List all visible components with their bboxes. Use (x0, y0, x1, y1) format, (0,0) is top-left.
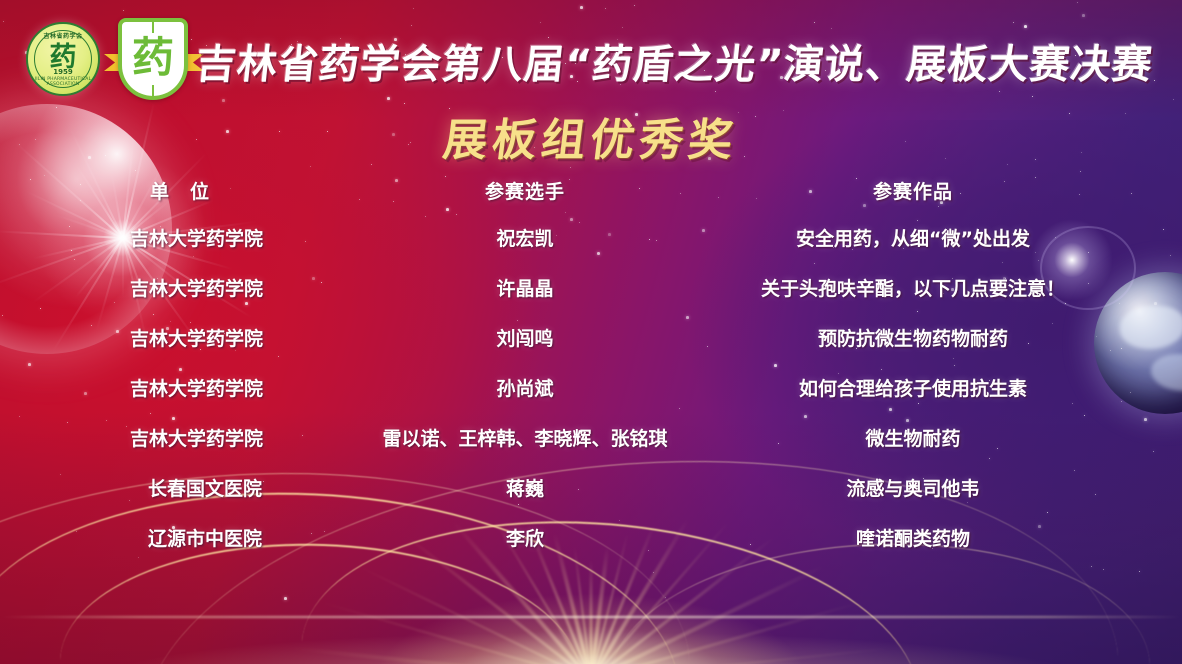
bottom-horizon-line (0, 616, 1182, 618)
page-title: 吉林省药学会第八届“药盾之光”演说、展板大赛决赛 (193, 38, 1159, 92)
shield-top-notch (152, 21, 154, 33)
cell-contestant: 许晶晶 (360, 274, 690, 301)
cell-work: 喹诺酮类药物 (690, 524, 1182, 551)
table-row: 吉林大学药学院祝宏凯安全用药，从细“微”处出发 (0, 212, 1182, 262)
association-seal-logo: 吉林省药学会 药 1959 JILIN PHARMACEUTICAL ASSOC… (26, 22, 100, 96)
table-row: 吉林大学药学院刘闯鸣预防抗微生物药物耐药 (0, 312, 1182, 362)
cell-unit: 长春国文医院 (0, 474, 360, 501)
cell-work: 微生物耐药 (690, 424, 1182, 451)
shield-bottom-notch (152, 85, 154, 97)
award-table: 单 位 参赛选手 参赛作品 吉林大学药学院祝宏凯安全用药，从细“微”处出发吉林大… (0, 168, 1182, 562)
table-row: 吉林大学药学院许晶晶关于头孢呋辛酯，以下几点要注意！ (0, 262, 1182, 312)
cell-work: 预防抗微生物药物耐药 (690, 324, 1182, 351)
table-row: 辽源市中医院李欣喹诺酮类药物 (0, 512, 1182, 562)
cell-work: 安全用药，从细“微”处出发 (690, 224, 1182, 251)
table-row: 吉林大学药学院雷以诺、王梓韩、李晓辉、张铭琪微生物耐药 (0, 412, 1182, 462)
cell-contestant: 孙尚斌 (360, 374, 690, 401)
slide-header: 吉林省药学会 药 1959 JILIN PHARMACEUTICAL ASSOC… (0, 0, 1182, 100)
seal-top-text: 吉林省药学会 (28, 31, 98, 40)
shield-yao-glyph: 药 (132, 37, 174, 79)
column-header-contestant: 参赛选手 (360, 177, 690, 204)
table-body: 吉林大学药学院祝宏凯安全用药，从细“微”处出发吉林大学药学院许晶晶关于头孢呋辛酯… (0, 212, 1182, 562)
cell-unit: 吉林大学药学院 (0, 324, 360, 351)
column-header-work: 参赛作品 (690, 177, 1182, 204)
cell-contestant: 雷以诺、王梓韩、李晓辉、张铭琪 (360, 424, 690, 451)
cell-contestant: 刘闯鸣 (360, 324, 690, 351)
cell-contestant: 蒋巍 (360, 474, 690, 501)
cell-work: 如何合理给孩子使用抗生素 (690, 374, 1182, 401)
table-row: 长春国文医院蒋巍流感与奥司他韦 (0, 462, 1182, 512)
column-header-unit: 单 位 (0, 177, 360, 204)
table-header-row: 单 位 参赛选手 参赛作品 (0, 168, 1182, 212)
seal-year: 1959 (28, 68, 98, 76)
cell-unit: 吉林大学药学院 (0, 424, 360, 451)
cell-unit: 吉林大学药学院 (0, 274, 360, 301)
award-subtitle: 展板组优秀奖 (0, 104, 1182, 168)
table-row: 吉林大学药学院孙尚斌如何合理给孩子使用抗生素 (0, 362, 1182, 412)
seal-bottom-text: JILIN PHARMACEUTICAL ASSOCIATION (28, 77, 98, 87)
cell-unit: 吉林大学药学院 (0, 374, 360, 401)
shield-emblem-logo: 药 (118, 18, 188, 100)
cell-unit: 吉林大学药学院 (0, 224, 360, 251)
cell-work: 流感与奥司他韦 (690, 474, 1182, 501)
cell-contestant: 祝宏凯 (360, 224, 690, 251)
cell-contestant: 李欣 (360, 524, 690, 551)
cell-work: 关于头孢呋辛酯，以下几点要注意！ (690, 274, 1182, 301)
slide-canvas: 吉林省药学会 药 1959 JILIN PHARMACEUTICAL ASSOC… (0, 0, 1182, 664)
cell-unit: 辽源市中医院 (0, 524, 360, 551)
